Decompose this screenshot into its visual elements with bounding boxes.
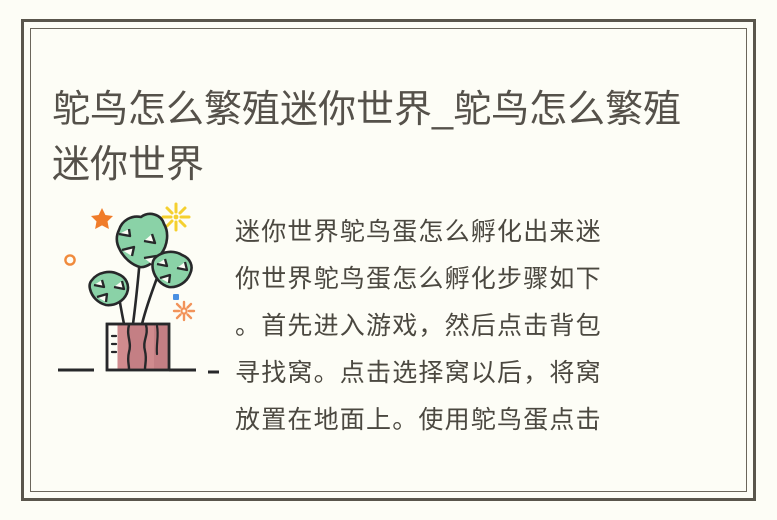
article-content: 鸵鸟怎么繁殖迷你世界_鸵鸟怎么繁殖迷你世界 <box>30 28 747 492</box>
body-line: 放置在地面上。使用鸵鸟蛋点击 <box>235 396 655 443</box>
orange-star-icon <box>91 208 113 229</box>
orange-flower-sparkle-icon <box>174 302 194 320</box>
body-line: 。首先进入游戏，然后点击背包 <box>235 302 655 349</box>
page-title: 鸵鸟怎么繁殖迷你世界_鸵鸟怎么繁殖迷你世界 <box>52 83 682 193</box>
potted-plant-illustration <box>56 196 226 381</box>
body-line: 寻找窝。点击选择窝以后，将窝 <box>235 349 655 396</box>
monstera-leaf-left <box>90 272 128 305</box>
monstera-leaf-right <box>152 252 191 287</box>
yellow-sparkle-icon <box>163 204 189 230</box>
page-root: 鸵鸟怎么繁殖迷你世界_鸵鸟怎么繁殖迷你世界 <box>0 0 777 520</box>
plant-pot <box>107 324 169 370</box>
body-line: 你世界鸵鸟蛋怎么孵化步骤如下 <box>235 255 655 302</box>
blue-dot-right-icon <box>173 294 179 300</box>
article-body: 迷你世界鸵鸟蛋怎么孵化出来迷 你世界鸵鸟蛋怎么孵化步骤如下 。首先进入游戏，然后… <box>235 208 655 443</box>
body-line: 迷你世界鸵鸟蛋怎么孵化出来迷 <box>235 208 655 255</box>
orange-circle-outline-icon <box>65 255 74 264</box>
